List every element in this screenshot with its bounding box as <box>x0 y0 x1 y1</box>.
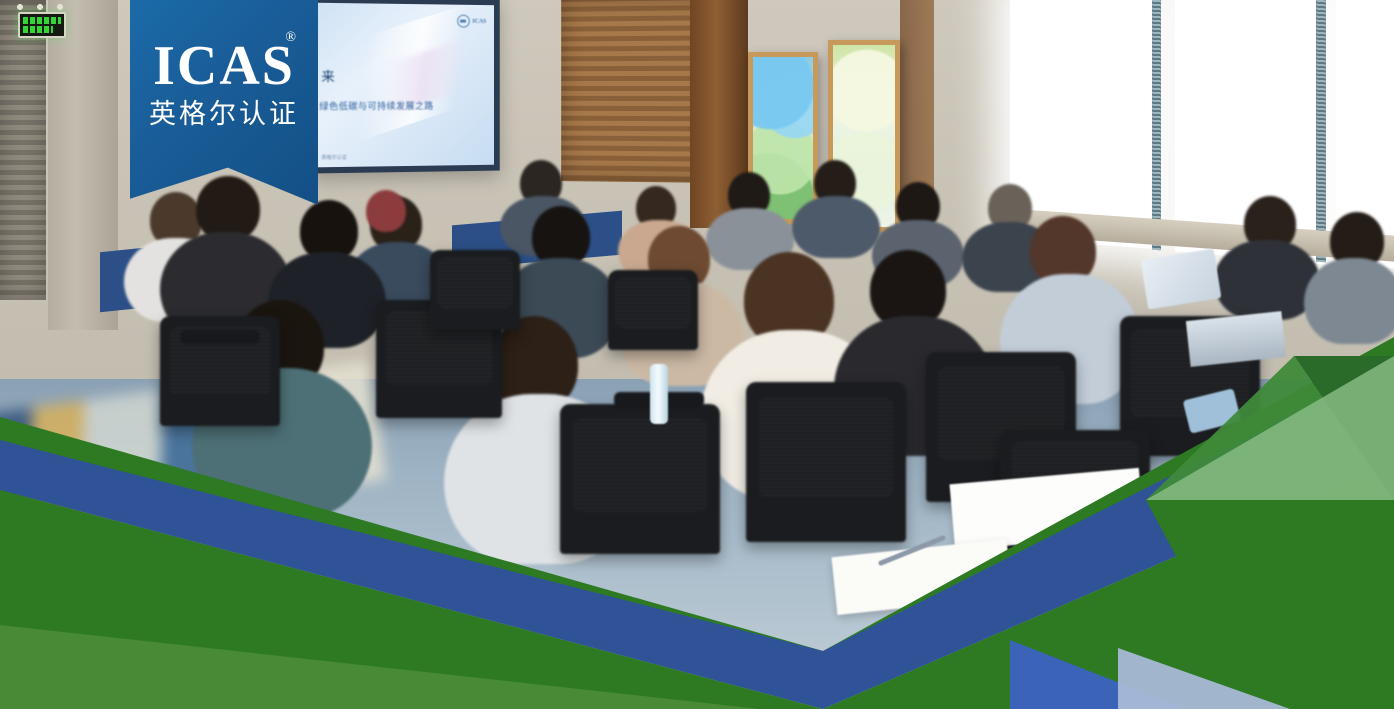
registered-trademark-icon: ® <box>285 30 296 46</box>
left-window-blinds <box>0 0 46 300</box>
slide-footer: 英格尔认证 <box>321 154 346 161</box>
exit-sign-icon <box>18 12 66 38</box>
slide-logo-text: ICAS <box>472 18 486 24</box>
attendee-body <box>1304 258 1394 344</box>
window-mullion-2 <box>1316 0 1326 262</box>
sign-mount <box>14 2 66 12</box>
chair-tablet-arm <box>180 330 260 344</box>
icas-chinese-name: 英格尔认证 <box>130 100 318 130</box>
banner-canvas: ICAS 来 绿色低碳与可持续发展之路 英格尔认证 <box>0 0 1394 709</box>
wood-panel-right <box>900 0 934 206</box>
chair <box>746 382 906 542</box>
icas-wordmark: ICAS <box>130 38 318 94</box>
slide-subtitle: 绿色低碳与可持续发展之路 <box>319 99 433 113</box>
chair <box>560 404 720 554</box>
projection-screen: ICAS 来 绿色低碳与可持续发展之路 英格尔认证 <box>311 0 500 173</box>
chair <box>430 250 520 330</box>
chair <box>608 270 698 350</box>
attendee-head <box>366 190 406 232</box>
slide-logo-icon: ICAS <box>457 15 486 28</box>
attendee-body <box>792 196 880 258</box>
presentation-slide: ICAS 来 绿色低碳与可持续发展之路 英格尔认证 <box>315 3 494 168</box>
window-mullion-1 <box>1152 0 1161 250</box>
water-bottle <box>650 364 668 424</box>
slide-title: 来 <box>321 66 335 85</box>
